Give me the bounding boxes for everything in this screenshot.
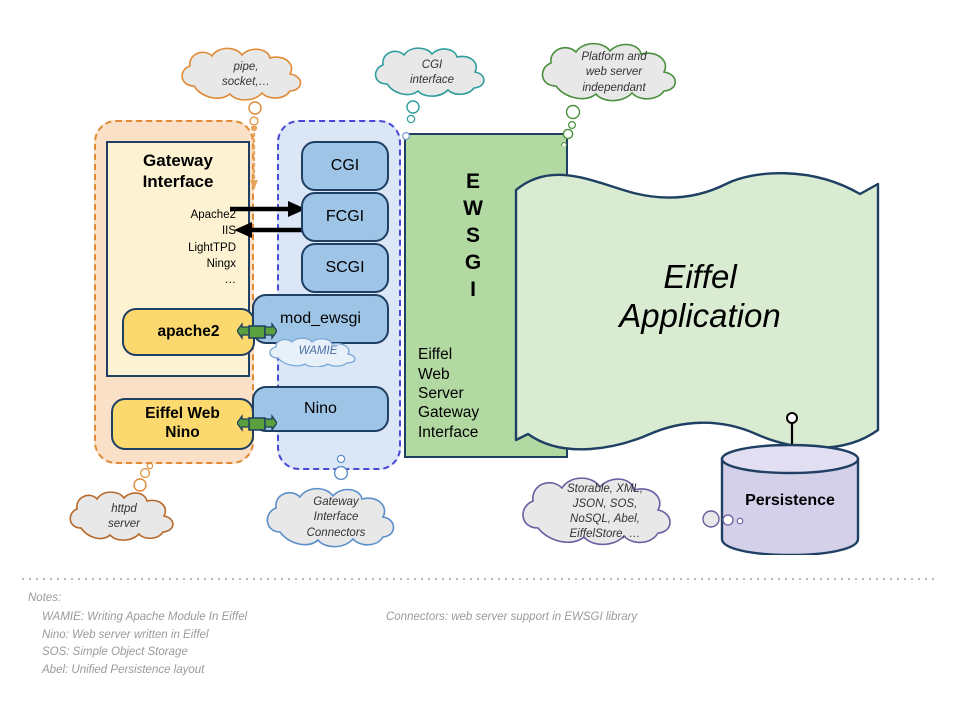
bubble-trail-pipe-socket	[240, 100, 270, 128]
ewsgi-letter-e: E	[456, 169, 490, 196]
server-item-ningx: Ningx	[188, 256, 236, 272]
server-item-more: …	[188, 272, 236, 288]
gateway-interface-title-line2: Interface	[108, 172, 248, 193]
cloud-cgi-interface: CGI interface	[367, 44, 497, 102]
notes-section: Notes: WAMIE: Writing Apache Module In E…	[28, 590, 928, 680]
cloud-shape-icon	[510, 470, 700, 554]
note-item-nino: Nino: Web server written in Eiffel	[42, 627, 928, 645]
apache2-box[interactable]: apache2	[122, 308, 255, 356]
bubble-trail-httpd	[130, 460, 160, 492]
arrow-left-icon	[234, 222, 310, 238]
ewsgi-letter-i: I	[456, 277, 490, 304]
cloud-persistence-formats: Storable, XML, JSON, SOS, NoSQL, Abel, E…	[510, 470, 700, 554]
bubble-trail-persistence	[700, 508, 746, 530]
server-item-lighttpd: LightTPD	[188, 240, 236, 256]
request-response-arrows	[228, 198, 312, 242]
cloud-shape-icon	[172, 44, 320, 106]
bubble-trail-cgi	[400, 100, 426, 126]
diagram-canvas: pipe, socket,… CGI interface Platform an…	[0, 0, 960, 720]
ewsgi-letter-w: W	[456, 196, 490, 223]
ewsgi-sub-line5: Interface	[418, 423, 479, 442]
ewsgi-letter-g: G	[456, 250, 490, 277]
note-item-sos: SOS: Simple Object Storage	[42, 644, 928, 662]
connector-cgi-label: CGI	[331, 157, 359, 175]
connector-box-cgi[interactable]: CGI	[301, 141, 389, 191]
ewsgi-sub-line4: Gateway	[418, 403, 479, 422]
cloud-shape-icon	[256, 482, 416, 554]
connector-nino-label: Nino	[304, 400, 337, 418]
plug-connector-nino-icon	[237, 412, 277, 436]
connector-box-fcgi[interactable]: FCGI	[301, 192, 389, 242]
apache2-label: apache2	[157, 323, 219, 342]
ewsgi-acronym: E W S G I	[456, 169, 490, 303]
connector-mod-ewsgi-label: mod_ewsgi	[280, 310, 361, 328]
cloud-wamie: WAMIE	[264, 337, 372, 367]
connector-box-scgi[interactable]: SCGI	[301, 243, 389, 293]
eiffel-application-line2: Application	[560, 297, 840, 336]
eiffel-web-nino-box[interactable]: Eiffel Web Nino	[111, 398, 254, 450]
eiffel-web-nino-line2: Nino	[165, 424, 199, 441]
gateway-interface-title: Gateway Interface	[108, 151, 248, 192]
ewsgi-sub-line3: Server	[418, 384, 479, 403]
bubble-trail-connectors	[328, 452, 354, 486]
eiffel-web-nino-label: Eiffel Web Nino	[145, 405, 220, 442]
ewsgi-letter-s: S	[456, 223, 490, 250]
eiffel-application-line1: Eiffel	[560, 258, 840, 297]
ewsgi-sub-line2: Web	[418, 365, 479, 384]
cloud-shape-icon	[264, 337, 372, 367]
plug-connector-apache2-icon	[237, 320, 277, 344]
cloud-shape-icon	[530, 38, 698, 108]
cloud-platform-independant: Platform and web server independant	[530, 38, 698, 108]
cloud-httpd-server: httpd server	[62, 488, 186, 546]
connector-fcgi-label: FCGI	[326, 208, 364, 226]
cloud-pipe-socket: pipe, socket,…	[172, 44, 320, 106]
ewsgi-sub-line1: Eiffel	[418, 345, 479, 364]
cloud-shape-icon	[367, 44, 497, 102]
note-item-connectors: Connectors: web server support in EWSGI …	[386, 609, 637, 627]
arrow-right-icon	[230, 201, 306, 217]
connector-scgi-label: SCGI	[325, 259, 364, 277]
eiffel-application-label: Eiffel Application	[560, 258, 840, 336]
gateway-interface-title-line1: Gateway	[108, 151, 248, 172]
note-item-abel: Abel: Unified Persistence layout	[42, 662, 928, 680]
cloud-shape-icon	[62, 488, 186, 546]
notes-heading: Notes:	[28, 590, 928, 608]
ewsgi-expanded-name: Eiffel Web Server Gateway Interface	[418, 345, 479, 442]
eiffel-web-nino-line1: Eiffel Web	[145, 405, 220, 422]
cloud-gateway-interface-connectors: Gateway Interface Connectors	[256, 482, 416, 554]
notes-divider	[22, 578, 938, 580]
selection-handles	[398, 126, 578, 146]
